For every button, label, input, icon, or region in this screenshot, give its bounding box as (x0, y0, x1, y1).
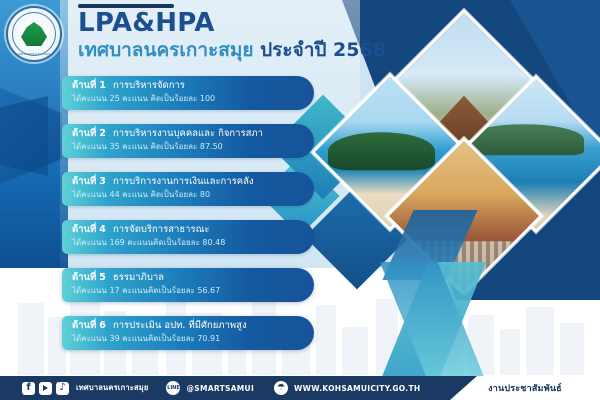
item-detail: ได้คะแนน 17 คะแนนคิดเป็นร้อยละ 56.67 (72, 285, 306, 297)
globe-icon[interactable]: ☂ (274, 381, 288, 395)
item-name: การประเมิน อปท. ที่มีศักยภาพสูง (113, 320, 247, 331)
assessment-list: ด้านที่ 1 การบริหารจัดการ ได้คะแนน 25 คะ… (62, 76, 322, 364)
subtitle-org: เทศบาลนครเกาะสมุย (78, 39, 253, 61)
item-detail: ได้คะแนน 44 คะแนน คิดเป็นร้อยละ 80 (72, 189, 306, 201)
item-number: 4 (99, 224, 106, 235)
item-detail: ได้คะแนน 35 คะแนน คิดเป็นร้อยละ 87.50 (72, 141, 306, 153)
item-name: การบริหารจัดการ (113, 80, 185, 91)
list-item[interactable]: ด้านที่ 3 การบริการงานการเงินและการคลัง … (62, 172, 314, 206)
line-handle: @SMARTSAMUI (186, 384, 254, 393)
list-item[interactable]: ด้านที่ 4 การจัดบริการสาธารณะ ได้คะแนน 1… (62, 220, 314, 254)
logo-caption: เทศบาลนครเกาะสมุย (8, 52, 60, 57)
left-band-notch-shadow (0, 96, 48, 176)
page-subtitle: เทศบาลนครเกาะสมุย ประจำปี 2568 (78, 40, 386, 62)
item-detail: ได้คะแนน 39 คะแนนคิดเป็นร้อยละ 70.91 (72, 333, 306, 345)
list-item[interactable]: ด้านที่ 2 การบริหารงานบุคคลและ กิจการสภา… (62, 124, 314, 158)
item-label: ด้านที่ (72, 272, 96, 283)
footer-tagline: งานประชาสัมพันธ์ (488, 381, 562, 395)
item-number: 3 (99, 176, 106, 187)
item-number: 2 (99, 128, 106, 139)
subtitle-year: ประจำปี 2568 (260, 39, 386, 61)
item-label: ด้านที่ (72, 224, 96, 235)
item-number: 5 (99, 272, 106, 283)
page-title: LPA&HPA (78, 10, 215, 37)
item-heading: ด้านที่ 1 การบริหารจัดการ (72, 79, 306, 93)
social-links: f ♪ (22, 382, 69, 395)
item-detail: ได้คะแนน 169 คะแนนคิดเป็นร้อยละ 80.48 (72, 237, 306, 249)
website-url[interactable]: WWW.KOHSAMUICITY.GO.TH (294, 384, 420, 393)
item-heading: ด้านที่ 4 การจัดบริการสาธารณะ (72, 223, 306, 237)
item-label: ด้านที่ (72, 320, 96, 331)
item-number: 1 (99, 80, 106, 91)
facebook-icon[interactable]: f (22, 382, 35, 395)
item-heading: ด้านที่ 3 การบริการงานการเงินและการคลัง (72, 175, 306, 189)
item-label: ด้านที่ (72, 80, 96, 91)
item-name: การจัดบริการสาธารณะ (113, 224, 210, 235)
item-heading: ด้านที่ 5 ธรรมาภิบาล (72, 271, 306, 285)
item-heading: ด้านที่ 2 การบริหารงานบุคคลและ กิจการสภา (72, 127, 306, 141)
item-number: 6 (99, 320, 106, 331)
list-item[interactable]: ด้านที่ 6 การประเมิน อปท. ที่มีศักยภาพสู… (62, 316, 314, 350)
item-label: ด้านที่ (72, 128, 96, 139)
item-label: ด้านที่ (72, 176, 96, 187)
poster-canvas: เทศบาลนครเกาะสมุย LPA&HPA เทศบาลนครเกาะส… (0, 0, 600, 400)
social-handle: เทศบาลนครเกาะสมุย (76, 382, 148, 394)
municipality-logo: เทศบาลนครเกาะสมุย (6, 6, 62, 62)
item-detail: ได้คะแนน 25 คะแนน คิดเป็นร้อยละ 100 (72, 93, 306, 105)
youtube-icon[interactable] (39, 382, 52, 395)
item-heading: ด้านที่ 6 การประเมิน อปท. ที่มีศักยภาพสู… (72, 319, 306, 333)
line-icon[interactable]: LINE (166, 381, 180, 395)
list-item[interactable]: ด้านที่ 5 ธรรมาภิบาล ได้คะแนน 17 คะแนนคิ… (62, 268, 314, 302)
tiktok-icon[interactable]: ♪ (56, 382, 69, 395)
item-name: ธรรมาภิบาล (113, 272, 164, 283)
item-name: การบริการงานการเงินและการคลัง (113, 176, 254, 187)
item-name: การบริหารงานบุคคลและ กิจการสภา (113, 128, 263, 139)
list-item[interactable]: ด้านที่ 1 การบริหารจัดการ ได้คะแนน 25 คะ… (62, 76, 314, 110)
